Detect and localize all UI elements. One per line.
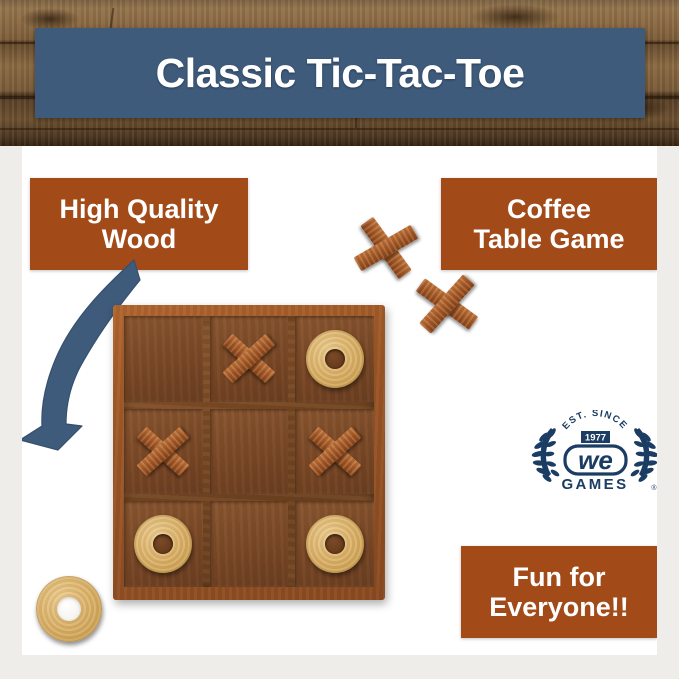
title-banner: Classic Tic-Tac-Toe [35, 28, 645, 118]
laurel-left-icon [531, 427, 560, 483]
o-piece-hole [325, 349, 345, 369]
x-bar [353, 225, 418, 272]
logo-est-text: EST. SINCE [560, 410, 629, 432]
callout-fun-for-everyone: Fun for Everyone!! [461, 546, 657, 638]
wood-plank-background: Classic Tic-Tac-Toe [0, 0, 679, 146]
laurel-right-icon [630, 427, 657, 483]
board-cell-r1c1[interactable] [124, 316, 203, 402]
callout-fun-line1: Fun for [489, 562, 629, 592]
o-piece-hole [153, 534, 173, 554]
board-cell-r2c3[interactable] [295, 409, 374, 495]
loose-x-piece-lower[interactable] [414, 271, 480, 337]
logo-brand-text: GAMES [561, 476, 628, 493]
board-cell-r3c2[interactable] [210, 501, 289, 587]
callout-coffee-table-game: Coffee Table Game [441, 178, 657, 270]
x-piece[interactable] [135, 423, 191, 479]
board-grid [124, 316, 374, 587]
wood-grain-crack [0, 128, 679, 130]
callout-fun-line2: Everyone!! [489, 592, 629, 622]
wood-knot [20, 8, 80, 30]
o-piece[interactable] [306, 330, 364, 388]
wood-knot [470, 4, 560, 30]
callout-quality-line1: High Quality [59, 194, 218, 224]
tic-tac-toe-board[interactable] [113, 305, 385, 600]
board-cell-r1c3[interactable] [295, 316, 374, 402]
we-games-logo-icon: EST. SINCE 1977 we GAMES ® [525, 410, 657, 496]
we-games-logo: EST. SINCE 1977 we GAMES ® [525, 410, 657, 496]
product-marketing-image: Classic Tic-Tac-Toe High Quality Wood Co… [0, 0, 679, 679]
board-cell-r1c2[interactable] [210, 316, 289, 402]
board-cell-r3c1[interactable] [124, 501, 203, 587]
logo-wordmark: we [565, 445, 626, 475]
o-piece-hole [325, 534, 345, 554]
x-piece[interactable] [307, 423, 363, 479]
o-piece-hole [57, 597, 81, 621]
o-piece[interactable] [36, 576, 102, 642]
x-piece[interactable] [414, 271, 480, 337]
x-piece[interactable] [221, 331, 277, 387]
callout-coffee-line2: Table Game [473, 224, 624, 254]
callout-quality-line2: Wood [59, 224, 218, 254]
loose-o-piece[interactable] [36, 576, 102, 642]
board-cell-r2c2[interactable] [210, 409, 289, 495]
o-piece[interactable] [134, 515, 192, 573]
o-piece[interactable] [306, 515, 364, 573]
loose-x-piece-upper[interactable] [350, 212, 421, 283]
product-photo-canvas: High Quality Wood Coffee Table Game Fun … [22, 146, 657, 655]
x-piece[interactable] [350, 212, 421, 283]
svg-text:we: we [578, 445, 613, 475]
board-cell-r3c3[interactable] [295, 501, 374, 587]
logo-year: 1977 [585, 432, 606, 443]
board-cell-r2c1[interactable] [124, 409, 203, 495]
callout-coffee-line1: Coffee [473, 194, 624, 224]
page-title: Classic Tic-Tac-Toe [156, 50, 525, 97]
logo-trademark: ® [651, 484, 657, 492]
